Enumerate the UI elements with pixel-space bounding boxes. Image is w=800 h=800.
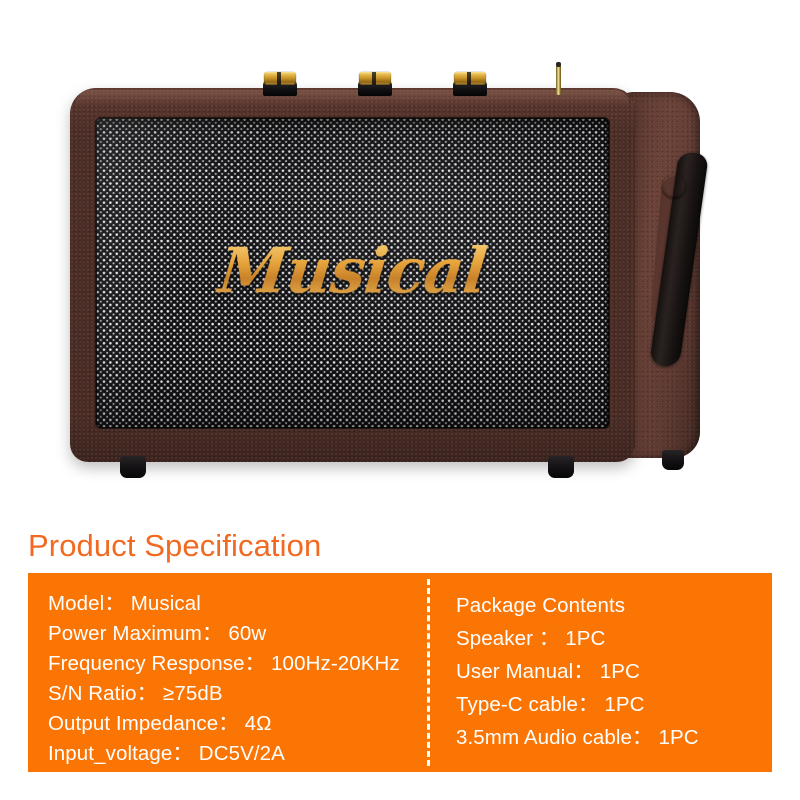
top-control-deck — [216, 80, 636, 96]
spec-column-left: Model： Musical Power Maximum： 60w Freque… — [28, 573, 427, 772]
spec-key: Input_voltage： — [48, 742, 193, 765]
spec-key: 3.5mm Audio cable： — [456, 726, 653, 749]
spec-row-input-voltage: Input_voltage： DC5V/2A — [48, 739, 427, 769]
spec-key: Model： — [48, 592, 125, 615]
spec-key: Speaker ： — [456, 627, 559, 650]
spec-key: Type-C cable： — [456, 693, 599, 716]
spec-row-power-maximum: Power Maximum： 60w — [48, 619, 427, 649]
spec-value: ≥75dB — [157, 682, 222, 705]
control-knob[interactable] — [452, 70, 488, 96]
rubber-foot — [662, 450, 684, 470]
cabinet-front: Musical — [70, 88, 635, 462]
product-photo: Musical — [0, 0, 800, 520]
knob-slot — [277, 72, 281, 85]
speaker-cabinet: Musical — [70, 88, 700, 462]
spec-key: Output Impedance： — [48, 712, 239, 735]
rubber-foot — [120, 456, 146, 478]
spec-value: Musical — [125, 592, 201, 615]
control-knob[interactable] — [357, 70, 393, 96]
spec-value: 1PC — [653, 726, 699, 749]
spec-key: User Manual： — [456, 660, 594, 683]
spec-key: Frequency Response： — [48, 652, 265, 675]
spec-value: 4Ω — [239, 712, 272, 735]
grille-sheen — [96, 118, 609, 428]
control-knob[interactable] — [262, 70, 298, 96]
package-row-user-manual: User Manual： 1PC — [456, 655, 772, 688]
spec-value: 1PC — [599, 693, 645, 716]
spec-value: 1PC — [559, 627, 605, 650]
spec-column-right: Package Contents Speaker ： 1PC User Manu… — [427, 573, 772, 772]
spec-value: DC5V/2A — [193, 742, 285, 765]
spec-section-title: Product Specification — [28, 530, 321, 561]
spec-row-output-impedance: Output Impedance： 4Ω — [48, 709, 427, 739]
spec-row-model: Model： Musical — [48, 589, 427, 619]
spec-row-frequency-response: Frequency Response： 100Hz-20KHz — [48, 649, 427, 679]
speaker-grille — [96, 118, 609, 428]
spec-value: 1PC — [594, 660, 640, 683]
specification-section: Product Specification Model： Musical Pow… — [0, 520, 800, 800]
knob-slot — [372, 72, 376, 85]
handle-mount-screw-icon — [662, 174, 686, 198]
package-contents-heading: Package Contents — [456, 589, 772, 622]
spec-value: 60w — [223, 622, 267, 645]
spec-row-sn-ratio: S/N Ratio： ≥75dB — [48, 679, 427, 709]
spec-key: Package Contents — [456, 594, 625, 617]
package-row-type-c-cable: Type-C cable： 1PC — [456, 688, 772, 721]
spec-panel: Model： Musical Power Maximum： 60w Freque… — [28, 573, 772, 772]
package-row-audio-cable: 3.5mm Audio cable： 1PC — [456, 721, 772, 754]
spec-key: Power Maximum： — [48, 622, 223, 645]
package-row-speaker: Speaker ： 1PC — [456, 622, 772, 655]
spec-value: 100Hz-20KHz — [265, 652, 400, 675]
rubber-foot — [548, 456, 574, 478]
knob-slot — [467, 72, 471, 85]
antenna-icon — [556, 65, 561, 95]
spec-key: S/N Ratio： — [48, 682, 157, 705]
